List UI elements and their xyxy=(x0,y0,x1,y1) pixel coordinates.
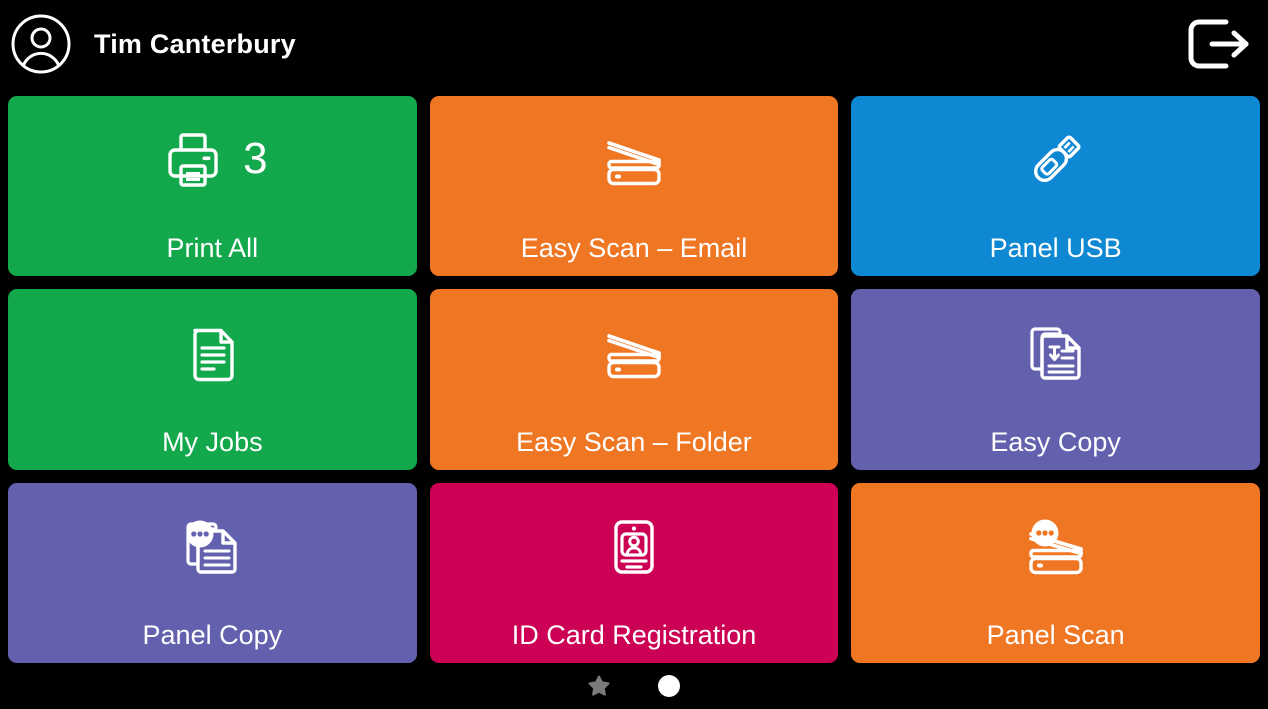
panel-copy-icon xyxy=(176,511,248,583)
printer-icon xyxy=(157,124,229,196)
tile-label: Easy Copy xyxy=(857,427,1254,457)
tile-easy-scan-folder[interactable]: Easy Scan – Folder xyxy=(430,289,839,469)
tile-label: ID Card Registration xyxy=(436,620,833,650)
tile-icon-row xyxy=(430,96,839,224)
usb-drive-icon xyxy=(1020,124,1092,196)
tile-panel-usb[interactable]: Panel USB xyxy=(851,96,1260,276)
tile-grid: 3 Print All Easy Scan – Email xyxy=(8,96,1260,663)
tile-panel-scan[interactable]: Panel Scan xyxy=(851,483,1260,663)
favorites-star-icon[interactable] xyxy=(588,675,610,697)
page-indicator-bar xyxy=(0,663,1268,709)
tile-label: Print All xyxy=(14,233,411,263)
tile-icon-row xyxy=(8,483,417,611)
tile-icon-row xyxy=(8,289,417,417)
tile-easy-scan-email[interactable]: Easy Scan – Email xyxy=(430,96,839,276)
print-job-count-badge: 3 xyxy=(243,137,267,181)
tile-label: Easy Scan – Folder xyxy=(436,427,833,457)
header-bar: Tim Canterbury xyxy=(0,0,1268,88)
tile-icon-row xyxy=(851,483,1260,611)
scanner-icon xyxy=(598,124,670,196)
tile-my-jobs[interactable]: My Jobs xyxy=(8,289,417,469)
id-card-icon xyxy=(598,511,670,583)
tile-print-all[interactable]: 3 Print All xyxy=(8,96,417,276)
document-icon xyxy=(176,317,248,389)
panel-scan-icon xyxy=(1020,511,1092,583)
page-indicator-dot[interactable] xyxy=(658,675,680,697)
tile-label: Panel Copy xyxy=(14,620,411,650)
tile-icon-row xyxy=(430,483,839,611)
tile-label: My Jobs xyxy=(14,427,411,457)
scanner-icon xyxy=(598,317,670,389)
logout-icon[interactable] xyxy=(1186,16,1252,72)
tile-icon-row xyxy=(851,289,1260,417)
tile-icon-row xyxy=(851,96,1260,224)
tile-label: Easy Scan – Email xyxy=(436,233,833,263)
user-avatar-icon xyxy=(10,13,72,75)
tile-label: Panel Scan xyxy=(857,620,1254,650)
tile-easy-copy[interactable]: Easy Copy xyxy=(851,289,1260,469)
user-name-label: Tim Canterbury xyxy=(94,29,296,60)
tile-icon-row: 3 xyxy=(8,96,417,224)
tile-id-card-registration[interactable]: ID Card Registration xyxy=(430,483,839,663)
tile-panel-copy[interactable]: Panel Copy xyxy=(8,483,417,663)
copy-documents-icon xyxy=(1020,317,1092,389)
tile-label: Panel USB xyxy=(857,233,1254,263)
tile-icon-row xyxy=(430,289,839,417)
